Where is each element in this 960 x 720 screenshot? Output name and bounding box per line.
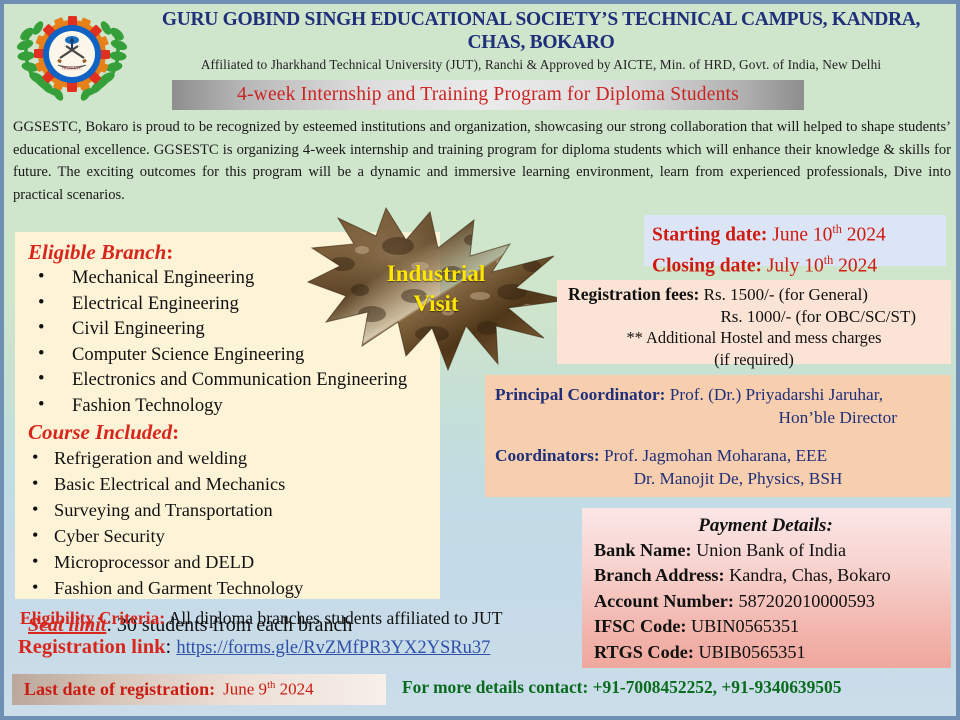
rtgs-code-label: RTGS Code:	[594, 642, 694, 662]
fees-note-line1: ** Additional Hostel and mess charges	[557, 327, 951, 349]
bank-name-value: Union Bank of India	[692, 540, 847, 560]
institution-name-line1: GURU GOBIND SINGH EDUCATIONAL SOCIETY’S …	[132, 8, 950, 31]
program-title: 4-week Internship and Training Program f…	[237, 84, 739, 106]
fees-general-value: Rs. 1500/- (for General)	[699, 285, 868, 304]
fees-general-line: Registration fees: Rs. 1500/- (for Gener…	[557, 284, 951, 306]
eligible-branch-heading-text: Eligible Branch	[28, 240, 166, 264]
course-included-list: Refrigeration and welding Basic Electric…	[28, 445, 440, 601]
starting-date-year: 2024	[842, 225, 886, 246]
fees-note-line2: (if required)	[557, 349, 951, 371]
coordinators-label: Coordinators:	[495, 446, 600, 465]
coordinators-box: Principal Coordinator: Prof. (Dr.) Priya…	[485, 375, 951, 497]
account-number-line: Account Number: 587202010000593	[594, 589, 951, 614]
list-item: Fashion Technology	[28, 393, 440, 419]
course-included-heading-text: Course Included	[28, 420, 172, 444]
bank-name-line: Bank Name: Union Bank of India	[594, 538, 951, 563]
program-title-band: 4-week Internship and Training Program f…	[172, 80, 804, 110]
poster-header: GGSESTC GURU GOBIND SINGH EDUCATIONAL SO…	[4, 4, 956, 76]
coordinator-2: Dr. Manojit De, Physics, BSH	[495, 467, 941, 490]
branch-address-value: Kandra, Chas, Bokaro	[725, 565, 891, 585]
payment-title-colon: :	[826, 515, 832, 536]
starting-date-line: Starting date: June 10th 2024	[652, 217, 946, 248]
list-item: Cyber Security	[28, 523, 440, 549]
intro-paragraph: GGSESTC, Bokaro is proud to be recognize…	[13, 116, 951, 206]
registration-fees-box: Registration fees: Rs. 1500/- (for Gener…	[557, 280, 951, 364]
rtgs-code-value: UBIB0565351	[694, 642, 806, 662]
eligibility-criteria-label: Eligibility Criteria:	[20, 608, 165, 628]
closing-date-sup: th	[824, 253, 834, 267]
contact-row: For more details contact: +91-7008452252…	[402, 677, 841, 698]
branch-address-label: Branch Address:	[594, 565, 725, 585]
eligible-branch-heading-colon: :	[166, 240, 173, 264]
branch-address-line: Branch Address: Kandra, Chas, Bokaro	[594, 563, 951, 588]
closing-date-value: July 10	[762, 255, 824, 276]
ggsestc-logo: GGSESTC	[16, 8, 128, 104]
contact-label: For more details contact:	[402, 677, 588, 697]
account-number-value: 587202010000593	[734, 591, 875, 611]
closing-date-line: Closing date: July 10th 2024	[652, 248, 946, 279]
ifsc-code-label: IFSC Code:	[594, 616, 686, 636]
ifsc-code-line: IFSC Code: UBIN0565351	[594, 614, 951, 639]
industrial-visit-starburst	[302, 204, 570, 374]
contact-numbers: +91-7008452252, +91-9340639505	[588, 677, 841, 697]
closing-date-label: Closing date:	[652, 255, 762, 276]
last-date-value-text: June 9	[223, 680, 267, 699]
fees-reserved-line: Rs. 1000/- (for OBC/SC/ST)	[557, 306, 951, 328]
last-date-year: 2024	[275, 680, 313, 699]
svg-text:GGSESTC: GGSESTC	[62, 66, 82, 71]
list-item: Refrigeration and welding	[28, 445, 440, 471]
coordinators-spacer	[495, 429, 941, 444]
coordinators-line: Coordinators: Prof. Jagmohan Moharana, E…	[495, 444, 941, 467]
payment-details-box: Payment Details: Bank Name: Union Bank o…	[582, 508, 951, 668]
account-number-label: Account Number:	[594, 591, 734, 611]
course-included-heading-colon: :	[172, 420, 179, 444]
principal-coordinator-title: Hon’ble Director	[495, 406, 941, 429]
institution-name-line2: CHAS, BOKARO	[132, 31, 950, 54]
list-item: Surveying and Transportation	[28, 497, 440, 523]
payment-details-title: Payment Details:	[594, 513, 951, 538]
ifsc-code-value: UBIN0565351	[686, 616, 799, 636]
list-item: Basic Electrical and Mechanics	[28, 471, 440, 497]
dates-box: Starting date: June 10th 2024 Closing da…	[644, 215, 946, 266]
principal-coordinator-label: Principal Coordinator:	[495, 385, 665, 404]
principal-coordinator-line: Principal Coordinator: Prof. (Dr.) Priya…	[495, 383, 941, 406]
principal-coordinator-name: Prof. (Dr.) Priyadarshi Jaruhar,	[665, 385, 883, 404]
fees-label: Registration fees:	[568, 284, 699, 304]
poster-root: GGSESTC GURU GOBIND SINGH EDUCATIONAL SO…	[0, 0, 960, 720]
closing-date-year: 2024	[833, 255, 877, 276]
registration-link-label: Registration link	[18, 636, 166, 658]
starting-date-sup: th	[832, 222, 842, 236]
last-date-value: June 9th 2024	[223, 679, 314, 700]
header-text-block: GURU GOBIND SINGH EDUCATIONAL SOCIETY’S …	[132, 8, 950, 73]
last-date-label: Last date of registration:	[24, 679, 215, 700]
starting-date-label: Starting date:	[652, 225, 767, 246]
registration-link-url[interactable]: https://forms.gle/RvZMfPR3YX2YSRu37	[176, 638, 490, 658]
payment-title-text: Payment Details	[698, 515, 826, 536]
eligibility-criteria-line: Eligibility Criteria: All diploma branch…	[20, 608, 502, 629]
list-item: Microprocessor and DELD	[28, 549, 440, 575]
affiliation-line: Affiliated to Jharkhand Technical Univer…	[132, 56, 950, 73]
last-date-box: Last date of registration: June 9th 2024	[12, 674, 386, 705]
starting-date-value: June 10	[767, 225, 832, 246]
registration-link-colon: :	[166, 636, 177, 658]
course-included-heading: Course Included:	[28, 419, 440, 445]
registration-link-row: Registration link: https://forms.gle/RvZ…	[18, 636, 490, 659]
eligibility-criteria-value: All diploma branches students affiliated…	[165, 608, 502, 628]
coordinator-1: Prof. Jagmohan Moharana, EEE	[600, 446, 827, 465]
rtgs-code-line: RTGS Code: UBIB0565351	[594, 640, 951, 665]
bank-name-label: Bank Name:	[594, 540, 692, 560]
list-item: Fashion and Garment Technology	[28, 575, 440, 601]
